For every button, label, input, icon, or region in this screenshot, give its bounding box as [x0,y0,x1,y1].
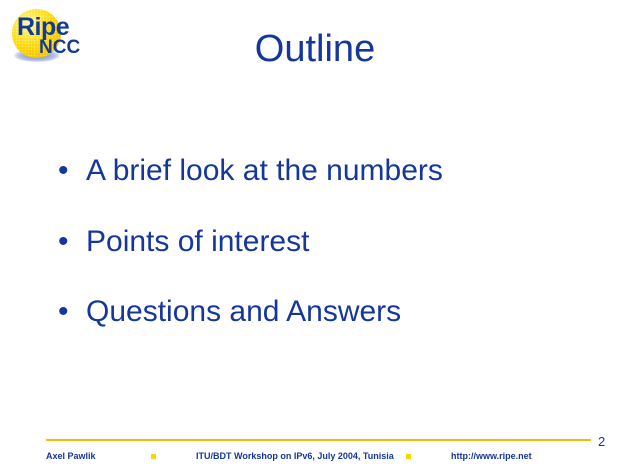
footer-divider [46,439,591,441]
footer-author: Axel Pawlik [46,451,151,461]
list-item: • Points of interest [58,223,598,261]
footer-separator-dot [406,454,411,459]
list-item: • A brief look at the numbers [58,152,598,190]
bullet-marker-icon: • [58,152,86,190]
bullet-list: • A brief look at the numbers • Points o… [58,152,598,364]
bullet-marker-icon: • [58,223,86,261]
slide-footer: Axel Pawlik ITU/BDT Workshop on IPv6, Ju… [46,448,591,464]
presentation-slide: Ripe NCC Outline • A brief look at the n… [0,0,630,472]
list-item: • Questions and Answers [58,293,598,331]
list-item-label: Questions and Answers [86,293,598,331]
footer-url: http://www.ripe.net [451,451,532,461]
footer-separator-dot [151,454,156,459]
slide-title: Outline [0,28,630,71]
list-item-label: Points of interest [86,223,598,261]
bullet-marker-icon: • [58,293,86,331]
footer-event: ITU/BDT Workshop on IPv6, July 2004, Tun… [196,451,406,461]
list-item-label: A brief look at the numbers [86,152,598,190]
page-number: 2 [598,434,605,449]
